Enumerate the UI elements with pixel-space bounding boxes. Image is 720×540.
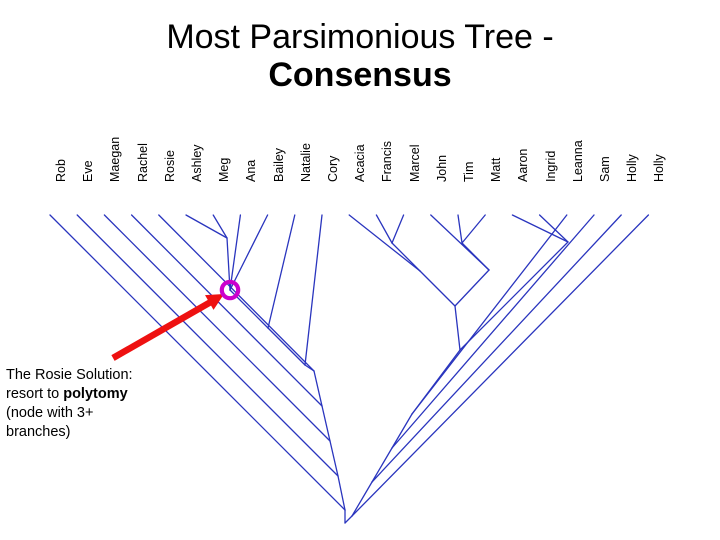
branch-rob — [50, 215, 345, 510]
caption-line-3: (node with 3+ — [6, 405, 93, 421]
branch-holly — [372, 215, 621, 482]
branch-john-clade-stem — [455, 270, 489, 306]
branch-matt — [462, 215, 485, 243]
root-segment-right — [345, 516, 352, 523]
spine-segment-4 — [314, 371, 322, 406]
spine-right-2 — [372, 448, 392, 482]
branch-leanna — [412, 215, 567, 414]
branch-natalie-clade-stem — [268, 328, 305, 365]
spine-segment-2 — [330, 441, 338, 476]
branch-natalie — [268, 215, 295, 328]
caption-line-4: branches) — [6, 424, 70, 440]
branch-acacia — [349, 215, 420, 271]
branch-right-upper-stem — [455, 306, 460, 350]
spine-segment-3 — [322, 406, 330, 441]
branch-francis-marcel-stem — [392, 243, 420, 271]
branch-acacia-clade-stem — [420, 271, 455, 306]
annotation-group — [113, 282, 238, 358]
red-arrow-shaft — [113, 299, 216, 358]
cladogram-figure — [0, 0, 720, 540]
caption-line-2-prefix: resort to — [6, 386, 63, 402]
branch-tim — [458, 215, 462, 243]
caption-keyword-polytomy: polytomy — [63, 386, 127, 402]
branch-john — [431, 215, 489, 270]
slide-canvas: Most Parsimonious Tree - Consensus RobEv… — [0, 0, 720, 540]
branch-right-clade-to-ladder — [412, 350, 460, 414]
branch-marcel — [392, 215, 404, 243]
rosie-solution-caption: The Rosie Solution: resort to polytomy (… — [6, 366, 186, 441]
branch-aaron — [512, 215, 568, 242]
branch-outgroup — [352, 215, 648, 516]
caption-line-1: The Rosie Solution: — [6, 367, 133, 383]
branch-cory — [305, 215, 322, 365]
branch-sam — [392, 215, 594, 448]
